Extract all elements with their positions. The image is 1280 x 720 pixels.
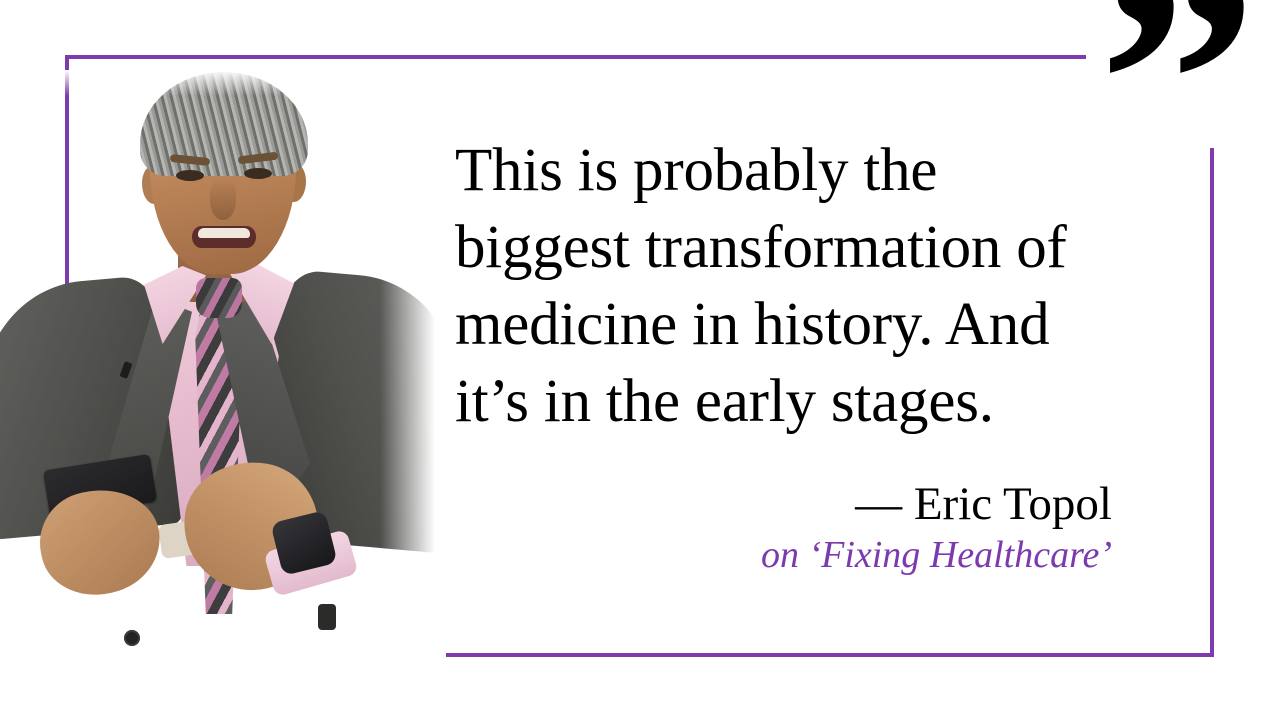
speaker-photo [0,70,440,720]
eye-left [176,170,204,181]
photo-fade-right [380,70,440,720]
frame-top-border [65,55,1086,59]
frame-bottom-border [446,653,1214,657]
quote-line-1: This is probably the [455,132,1115,209]
quote-line-2: biggest transformation of [455,209,1115,286]
quote-text: This is probably the biggest transformat… [455,132,1115,440]
teeth [198,228,250,238]
attribution-block: — Eric Topol on ‘Fixing Healthcare’ [560,477,1112,578]
suit-button [124,630,140,646]
quote-slide: ” This is probably the biggest transform… [0,0,1280,720]
attribution-name: — Eric Topol [560,477,1112,532]
attribution-source: on ‘Fixing Healthcare’ [560,532,1112,578]
quotation-mark-icon: ” [1098,0,1252,242]
eye-right [244,168,272,179]
photo-fade-top [0,70,440,96]
nose [210,178,236,220]
sleeve-buttons [318,604,336,630]
quote-line-4: it’s in the early stages. [455,363,1115,440]
necktie-knot [196,278,242,318]
quote-line-3: medicine in history. And [455,286,1115,363]
